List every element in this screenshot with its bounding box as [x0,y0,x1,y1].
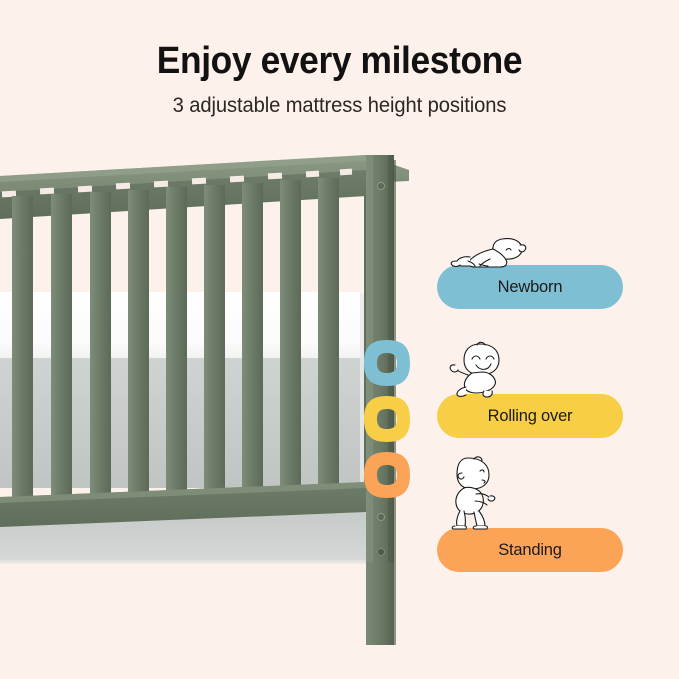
screw-icon [377,513,384,520]
header-block: Enjoy every milestone 3 adjustable mattr… [0,42,679,118]
milestone-newborn: Newborn [432,225,632,335]
screw-icon [377,182,384,189]
page-subtitle: 3 adjustable mattress height positions [14,94,666,118]
milestone-rolling-over: Rolling over [432,335,632,454]
page-title: Enjoy every milestone [24,42,655,82]
height-marker-newborn [362,338,412,388]
milestone-list: Newborn [432,225,632,564]
height-marker-rolling-over [362,394,412,444]
milestone-label: Rolling over [488,407,573,426]
milestone-standing: Standing [432,454,632,564]
height-marker-standing [362,450,412,500]
crib-slats [12,178,339,516]
milestone-pill-rolling-over[interactable]: Rolling over [437,394,623,438]
milestone-label: Newborn [498,278,563,297]
baby-sitting-icon [444,341,516,399]
milestone-pill-newborn[interactable]: Newborn [437,265,623,309]
baby-standing-icon [444,456,506,530]
product-marketing-image: Enjoy every milestone 3 adjustable mattr… [0,0,679,679]
milestone-pill-standing[interactable]: Standing [437,528,623,572]
mattress-height-markers [362,338,418,506]
milestone-label: Standing [498,541,562,560]
screw-icon [377,548,384,555]
